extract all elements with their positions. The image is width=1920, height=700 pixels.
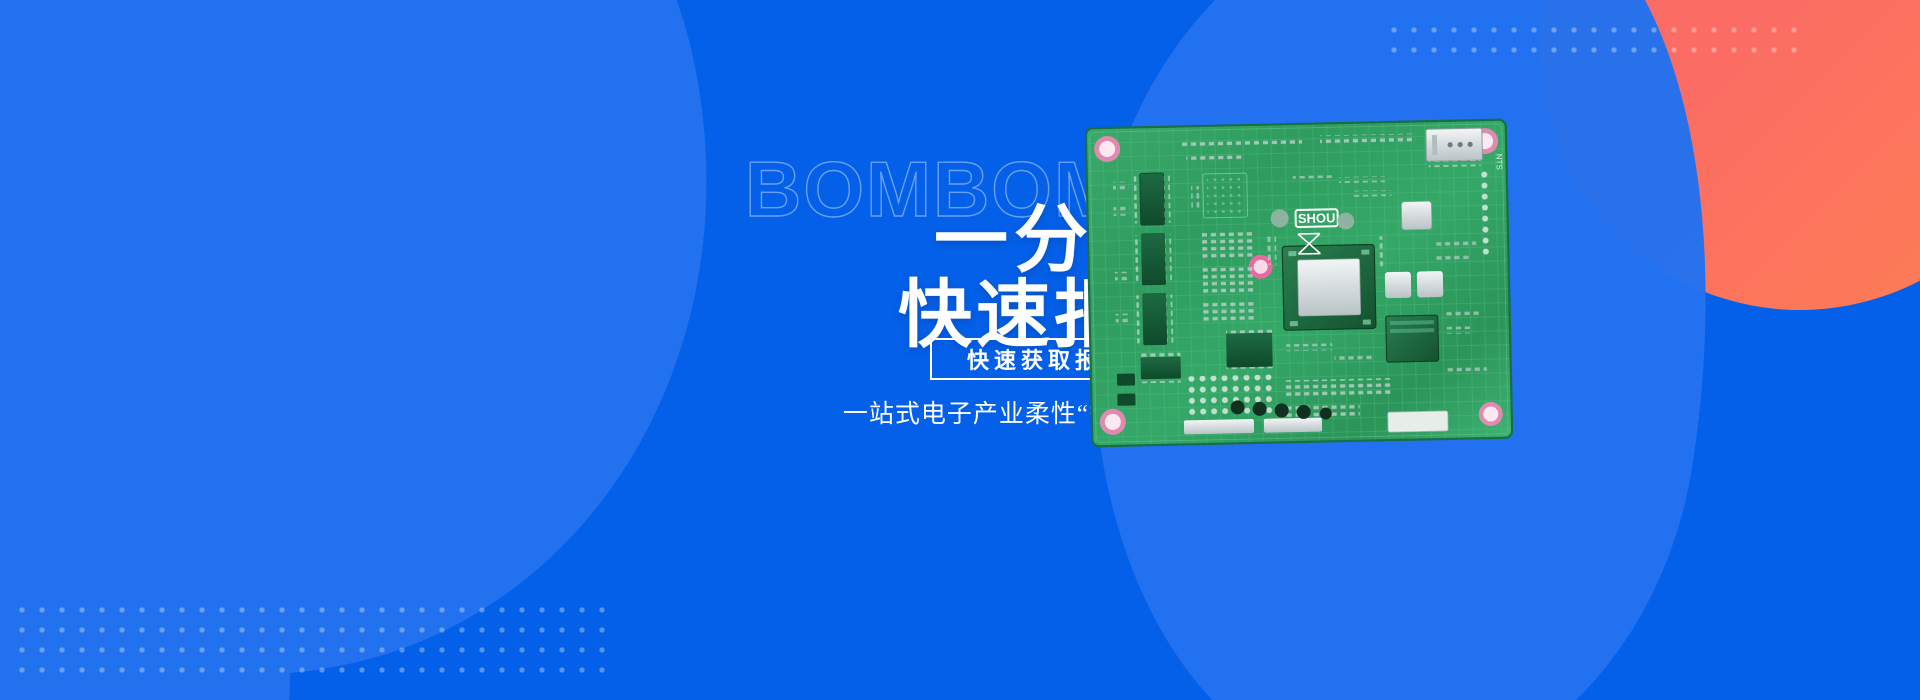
promo-banner: BOMBOM 一分钟 快速报价 快速获取报价信息 一站式电子产业柔性“智”造服务… <box>0 0 1920 700</box>
pcb-side-label: NTS <box>1494 154 1503 170</box>
dot-grid-top-right <box>1384 20 1802 60</box>
svg-text:SHOU: SHOU <box>1298 210 1336 226</box>
pcb-circuit-board-graphic: SHOU <box>1085 118 1513 448</box>
pcb-circuit-board-image: SHOU <box>1085 118 1513 448</box>
dot-grid-bottom-left <box>12 600 612 680</box>
